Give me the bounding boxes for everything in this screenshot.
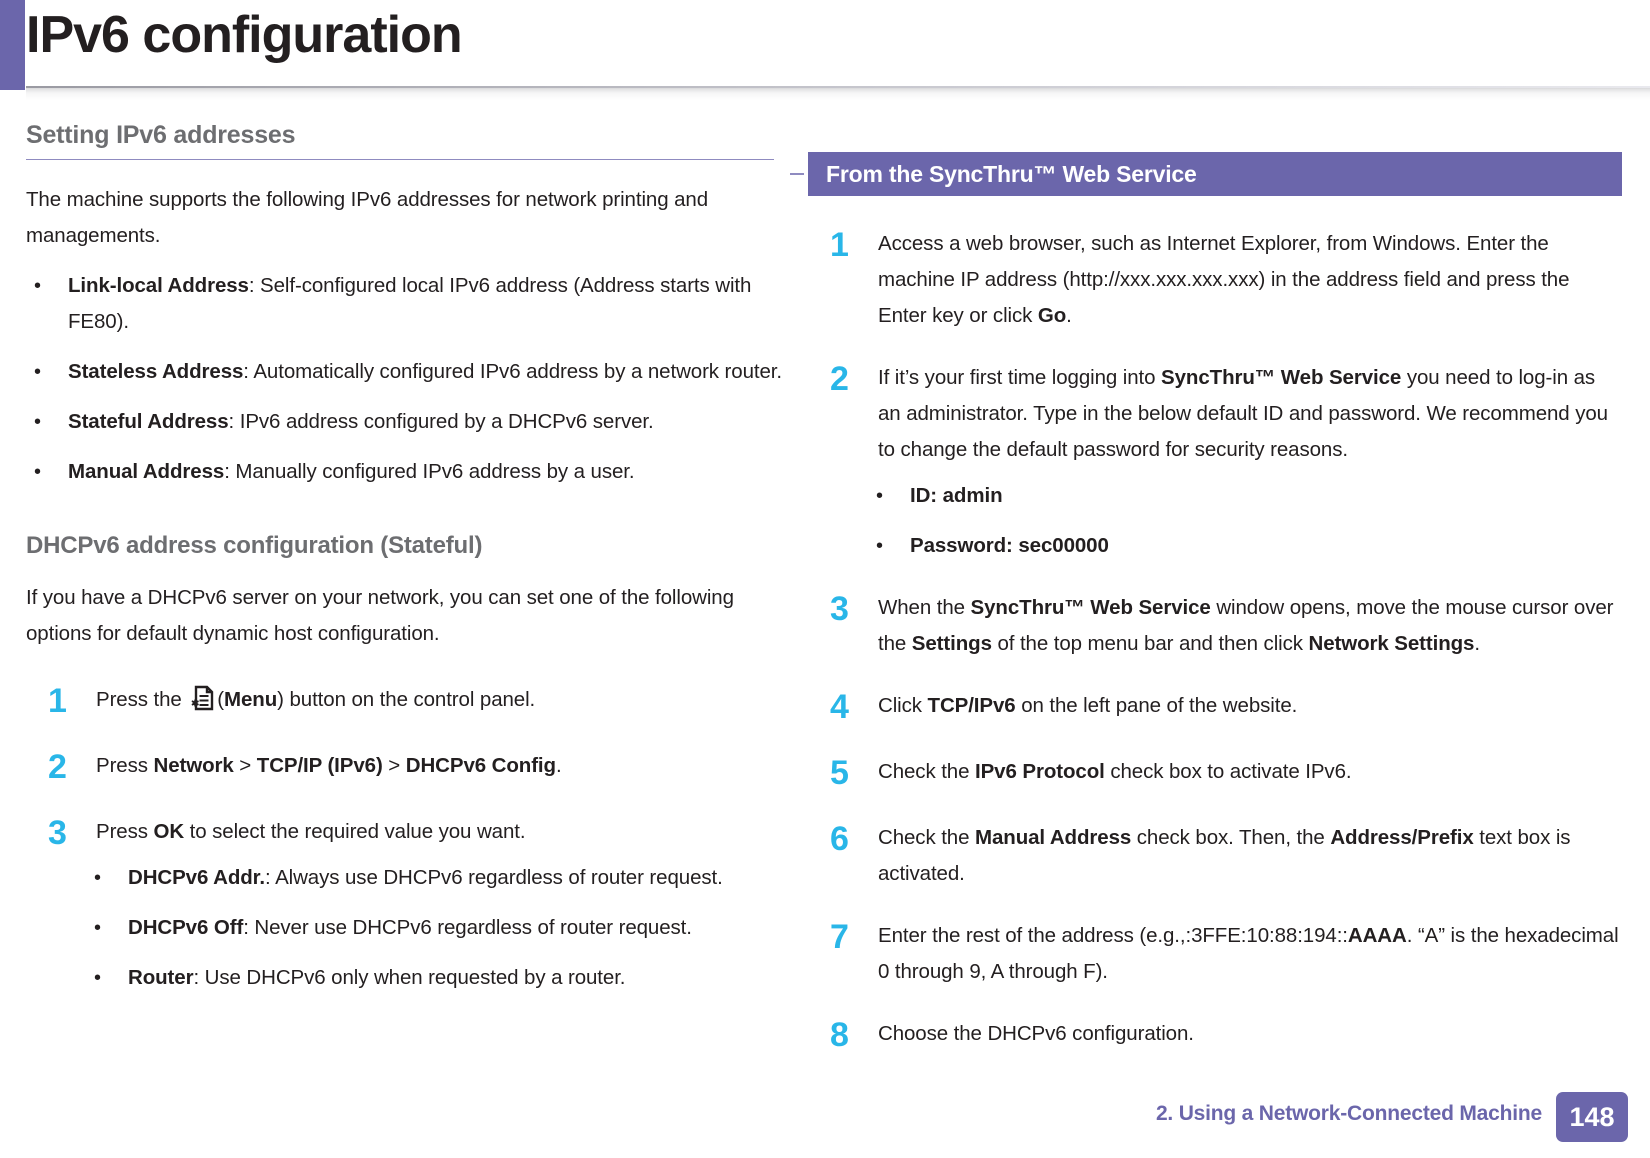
step-bold-1: OK: [154, 820, 185, 843]
step-bold-2: TCP/IP (IPv6): [257, 754, 383, 777]
swc-step-4: 4 Click TCP/IPv6 on the left pane of the…: [808, 688, 1622, 728]
bullet-dot: •: [34, 268, 41, 304]
step-part-1: Check the: [878, 826, 975, 849]
list-item: • ID: admin: [868, 478, 1622, 514]
desc: : Manually configured IPv6 address by a …: [224, 460, 634, 483]
list-item: • Password: sec00000: [868, 528, 1622, 564]
step-text: Press the (Menu) button on the control p…: [96, 682, 786, 718]
step-number: 8: [830, 1013, 849, 1057]
step-sep-1: >: [234, 754, 257, 777]
step-part-2: check box. Then, the: [1131, 826, 1330, 849]
step-text-before: Press the: [96, 688, 187, 711]
step-bold-1: Manual Address: [975, 826, 1131, 849]
list-item: • DHCPv6 Off: Never use DHCPv6 regardles…: [86, 910, 786, 946]
term: Link-local Address: [68, 274, 249, 297]
list-item: • Stateless Address: Automatically confi…: [26, 354, 786, 390]
step-number: 4: [830, 685, 849, 729]
section-heading: Setting IPv6 addresses: [26, 118, 786, 152]
step-number: 7: [830, 915, 849, 959]
step-3-option-list: • DHCPv6 Addr.: Always use DHCPv6 regard…: [86, 860, 786, 996]
step-bold-1: Network: [154, 754, 234, 777]
bullet-dot: •: [94, 860, 101, 896]
swc-step-2: 2 If it’s your first time logging into S…: [808, 360, 1622, 564]
right-column: From the SyncThru™ Web Service 1 Access …: [808, 152, 1622, 1056]
step-text: Choose the DHCPv6 configuration.: [878, 1016, 1622, 1052]
swc-step-5: 5 Check the IPv6 Protocol check box to a…: [808, 754, 1622, 794]
step-number: 2: [48, 745, 67, 789]
step-text: Check the Manual Address check box. Then…: [878, 820, 1622, 892]
step-number: 2: [830, 357, 849, 401]
step-part-2: check box to activate IPv6.: [1105, 760, 1352, 783]
step-number: 1: [48, 679, 67, 723]
credentials-list: • ID: admin • Password: sec00000: [868, 478, 1622, 564]
step-text: Check the IPv6 Protocol check box to act…: [878, 754, 1622, 790]
desc: : Automatically configured IPv6 address …: [243, 360, 782, 383]
step-bold-1: IPv6 Protocol: [975, 760, 1105, 783]
step-prefix: Press: [96, 754, 154, 777]
step-bold-1: AAAA: [1348, 924, 1407, 947]
step-part-1: Click: [878, 694, 928, 717]
page-title: IPv6 configuration: [26, 2, 462, 68]
step-part-2: .: [1066, 304, 1072, 327]
step-number: 6: [830, 817, 849, 861]
step-part-1: Check the: [878, 760, 975, 783]
step-text: Press Network > TCP/IP (IPv6) > DHCPv6 C…: [96, 748, 786, 784]
term: Router: [128, 966, 193, 989]
step-bold-1: TCP/IPv6: [928, 694, 1016, 717]
step-prefix: Press: [96, 820, 154, 843]
step-1: 1 Press the (Menu) button on the control…: [26, 682, 786, 722]
page-footer: 2. Using a Network-Connected Machine 148: [0, 1086, 1650, 1158]
list-item: • Stateful Address: IPv6 address configu…: [26, 404, 786, 440]
step-number: 3: [48, 811, 67, 855]
step-part-1: When the: [878, 596, 971, 619]
desc: : IPv6 address configured by a DHCPv6 se…: [229, 410, 654, 433]
swc-step-7: 7 Enter the rest of the address (e.g.,:3…: [808, 918, 1622, 990]
step-bold-1: SyncThru™ Web Service: [971, 596, 1211, 619]
term: Manual Address: [68, 460, 224, 483]
swc-step-3: 3 When the SyncThru™ Web Service window …: [808, 590, 1622, 662]
list-item: • Manual Address: Manually configured IP…: [26, 454, 786, 490]
menu-icon: [189, 684, 214, 712]
footer-chapter-label: 2. Using a Network-Connected Machine: [1156, 1102, 1542, 1126]
desc: : Never use DHCPv6 regardless of router …: [243, 916, 692, 939]
right-section-heading-label: From the SyncThru™ Web Service: [826, 161, 1197, 188]
step-bold-1: Go: [1038, 304, 1066, 327]
bullet-dot: •: [876, 478, 883, 514]
step-part-1: If it’s your first time logging into: [878, 366, 1161, 389]
sub-heading: DHCPv6 address configuration (Stateful): [26, 530, 786, 562]
term: DHCPv6 Addr.: [128, 866, 265, 889]
step-bold: Menu: [224, 688, 277, 711]
step-text-after: ) button on the control panel.: [277, 688, 535, 711]
step-part-1: Access a web browser, such as Internet E…: [878, 232, 1569, 327]
step-bold-1: SyncThru™ Web Service: [1161, 366, 1401, 389]
swc-step-6: 6 Check the Manual Address check box. Th…: [808, 820, 1622, 892]
title-divider: [26, 86, 1650, 100]
step-part-3: of the top menu bar and then click: [992, 632, 1309, 655]
term: DHCPv6 Off: [128, 916, 243, 939]
step-text: When the SyncThru™ Web Service window op…: [878, 590, 1622, 662]
step-part-1: Enter the rest of the address (e.g.,:3FF…: [878, 924, 1348, 947]
step-suffix: .: [556, 754, 562, 777]
step-part-4: .: [1474, 632, 1480, 655]
step-3: 3 Press OK to select the required value …: [26, 814, 786, 996]
list-item: • Link-local Address: Self-configured lo…: [26, 268, 786, 340]
left-column: Setting IPv6 addresses The machine suppo…: [26, 118, 786, 996]
step-sep-2: >: [383, 754, 406, 777]
step-part-2: on the left pane of the website.: [1016, 694, 1298, 717]
term: Stateless Address: [68, 360, 243, 383]
swc-step-8: 8 Choose the DHCPv6 configuration.: [808, 1016, 1622, 1056]
right-section-heading: From the SyncThru™ Web Service: [808, 152, 1622, 196]
title-accent-bar: [0, 0, 25, 90]
address-type-list: • Link-local Address: Self-configured lo…: [26, 268, 786, 490]
desc: : Use DHCPv6 only when requested by a ro…: [193, 966, 625, 989]
step-bold-3: Network Settings: [1309, 632, 1475, 655]
section-tick: [790, 173, 804, 175]
step-text: Access a web browser, such as Internet E…: [878, 226, 1622, 334]
bullet-dot: •: [876, 528, 883, 564]
page-header: IPv6 configuration: [0, 0, 1650, 92]
desc: : Always use DHCPv6 regardless of router…: [265, 866, 723, 889]
sub-intro-paragraph: If you have a DHCPv6 server on your netw…: [26, 580, 786, 652]
step-text: Click TCP/IPv6 on the left pane of the w…: [878, 688, 1622, 724]
step-bold-2: Settings: [912, 632, 992, 655]
credential-id: ID: admin: [910, 484, 1003, 507]
step-number: 5: [830, 751, 849, 795]
credential-password: Password: sec00000: [910, 534, 1109, 557]
bullet-dot: •: [34, 354, 41, 390]
bullet-dot: •: [94, 910, 101, 946]
list-item: • Router: Use DHCPv6 only when requested…: [86, 960, 786, 996]
intro-paragraph: The machine supports the following IPv6 …: [26, 182, 786, 254]
bullet-dot: •: [94, 960, 101, 996]
bullet-dot: •: [34, 404, 41, 440]
step-2: 2 Press Network > TCP/IP (IPv6) > DHCPv6…: [26, 748, 786, 788]
swc-step-1: 1 Access a web browser, such as Internet…: [808, 226, 1622, 334]
step-number: 3: [830, 587, 849, 631]
step-number: 1: [830, 223, 849, 267]
list-item: • DHCPv6 Addr.: Always use DHCPv6 regard…: [86, 860, 786, 896]
bullet-dot: •: [34, 454, 41, 490]
step-suffix: to select the required value you want.: [184, 820, 525, 843]
step-bold-3: DHCPv6 Config: [406, 754, 556, 777]
page-number-badge: 148: [1556, 1092, 1628, 1142]
term: Stateful Address: [68, 410, 229, 433]
step-text: Enter the rest of the address (e.g.,:3FF…: [878, 918, 1622, 990]
step-text: Press OK to select the required value yo…: [96, 814, 786, 850]
step-text: If it’s your first time logging into Syn…: [878, 360, 1622, 468]
step-bold-2: Address/Prefix: [1330, 826, 1473, 849]
